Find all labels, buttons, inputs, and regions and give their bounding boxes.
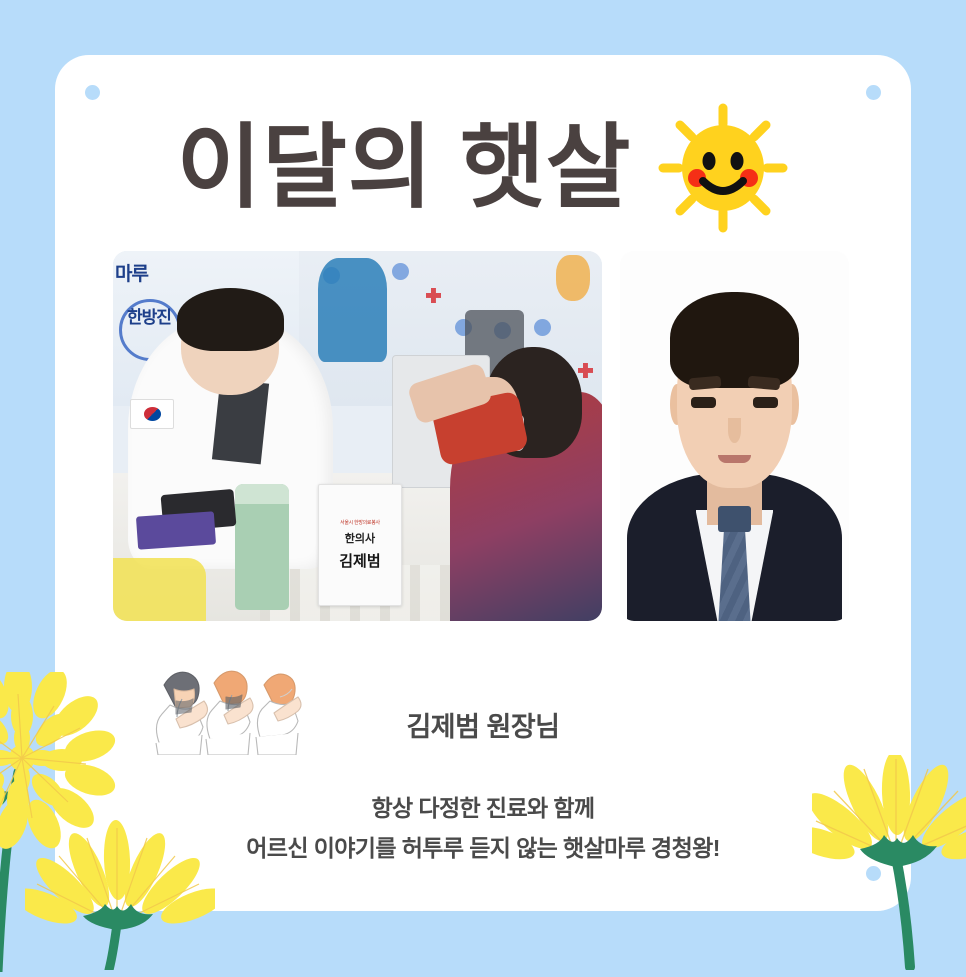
red-cross-icon xyxy=(426,288,441,303)
green-tumbler xyxy=(235,484,289,610)
yellow-bag xyxy=(113,558,206,621)
portrait-eyebrow-right xyxy=(748,375,781,390)
banner-text-2: 한방진 xyxy=(127,303,171,328)
flower-right xyxy=(812,755,966,970)
red-cross-icon xyxy=(578,363,593,378)
portrait-mouth xyxy=(718,455,750,463)
banner-logo-dot xyxy=(534,319,551,336)
banner-text-1: 마루 xyxy=(115,259,148,286)
banner-mascot xyxy=(556,255,590,301)
nameplate-role: 한의사 xyxy=(345,530,375,546)
nameplate-name: 김제범 xyxy=(339,550,380,571)
desk-nameplate: 서울시 한방의료봉사 한의사 김제범 xyxy=(318,484,401,606)
portrait-eyebrow-left xyxy=(688,375,721,390)
corner-dot-top-left xyxy=(85,85,100,100)
page-title: 이달의 햇살 xyxy=(177,122,632,214)
portrait-tie-knot xyxy=(718,506,750,532)
nameplate-org-line: 서울시 한방의료봉사 xyxy=(340,519,380,526)
smiling-sun-icon xyxy=(657,102,789,234)
portrait-eye-left xyxy=(691,397,716,407)
flower-left-small xyxy=(25,820,215,970)
portrait-hair xyxy=(670,292,798,388)
doctor-hair xyxy=(177,288,285,351)
photo-row: 마루 한방진 xyxy=(113,251,853,621)
corner-dot-top-right xyxy=(866,85,881,100)
portrait-photo xyxy=(620,251,849,621)
portrait-eye-right xyxy=(753,397,778,407)
banner-logo-dot xyxy=(392,263,409,280)
doctor-name: 김제범 원장님 xyxy=(55,705,911,744)
korea-flag-patch-icon xyxy=(130,399,174,429)
title-row: 이달의 햇살 xyxy=(55,103,911,233)
background-staff xyxy=(318,258,386,362)
consultation-photo: 마루 한방진 xyxy=(113,251,602,621)
main-card: 이달의 햇살 xyxy=(55,55,911,911)
tumbler-lid xyxy=(235,484,289,504)
purple-leaflet xyxy=(136,511,216,550)
